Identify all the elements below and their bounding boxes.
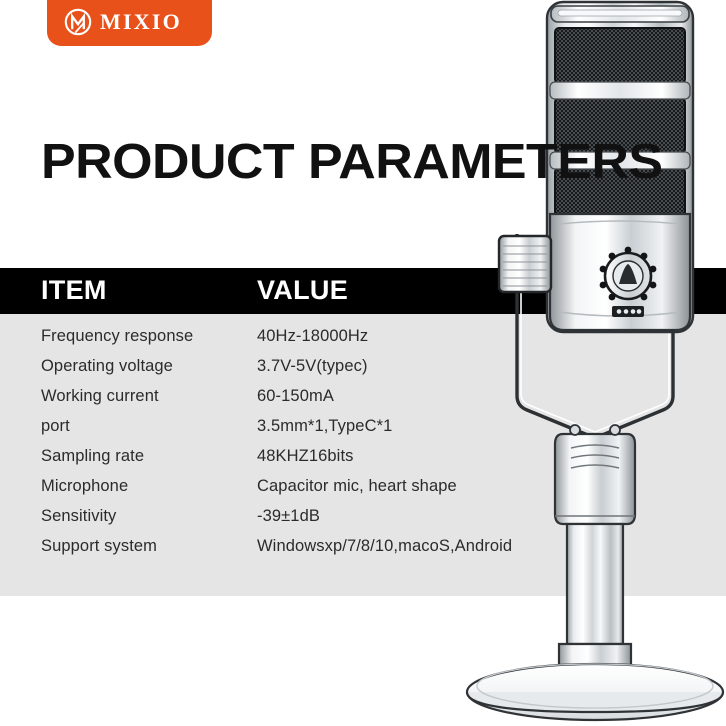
param-name: Support system xyxy=(41,535,157,557)
param-value: 3.7V-5V(typec) xyxy=(257,355,368,377)
table-row: Operating voltage 3.7V-5V(typec) xyxy=(0,355,726,385)
background-band-bottom xyxy=(0,596,726,726)
column-header-item: ITEM xyxy=(41,277,107,304)
param-value: Windowsxp/7/8/10,macoS,Android xyxy=(257,535,512,557)
param-value: -39±1dB xyxy=(257,505,320,527)
table-row: Sensitivity -39±1dB xyxy=(0,505,726,535)
param-value: 48KHZ16bits xyxy=(257,445,353,467)
param-name: Sensitivity xyxy=(41,505,116,527)
param-name: Working current xyxy=(41,385,159,407)
param-name: port xyxy=(41,415,70,437)
param-name: Frequency response xyxy=(41,325,193,347)
param-name: Sampling rate xyxy=(41,445,144,467)
page-title: PRODUCT PARAMETERS xyxy=(41,138,662,187)
table-row: port 3.5mm*1,TypeC*1 xyxy=(0,415,726,445)
column-header-value: VALUE xyxy=(257,277,348,304)
table-header-row: ITEM VALUE xyxy=(0,268,726,314)
param-name: Operating voltage xyxy=(41,355,173,377)
parameters-table: Frequency response 40Hz-18000Hz Operatin… xyxy=(0,325,726,565)
product-parameters-infographic: MIXIO PRODUCT PARAMETERS ITEM VALUE Freq… xyxy=(0,0,726,726)
table-row: Frequency response 40Hz-18000Hz xyxy=(0,325,726,355)
param-value: 3.5mm*1,TypeC*1 xyxy=(257,415,392,437)
brand-name: MIXIO xyxy=(100,11,182,37)
param-name: Microphone xyxy=(41,475,128,497)
table-row: Support system Windowsxp/7/8/10,macoS,An… xyxy=(0,535,726,565)
param-value: 40Hz-18000Hz xyxy=(257,325,368,347)
table-row: Sampling rate 48KHZ16bits xyxy=(0,445,726,475)
param-value: Capacitor mic, heart shape xyxy=(257,475,457,497)
param-value: 60-150mA xyxy=(257,385,334,407)
table-row: Working current 60-150mA xyxy=(0,385,726,415)
brand-logo-badge: MIXIO xyxy=(47,0,212,46)
circled-m-monogram-icon xyxy=(63,7,93,37)
table-row: Microphone Capacitor mic, heart shape xyxy=(0,475,726,505)
